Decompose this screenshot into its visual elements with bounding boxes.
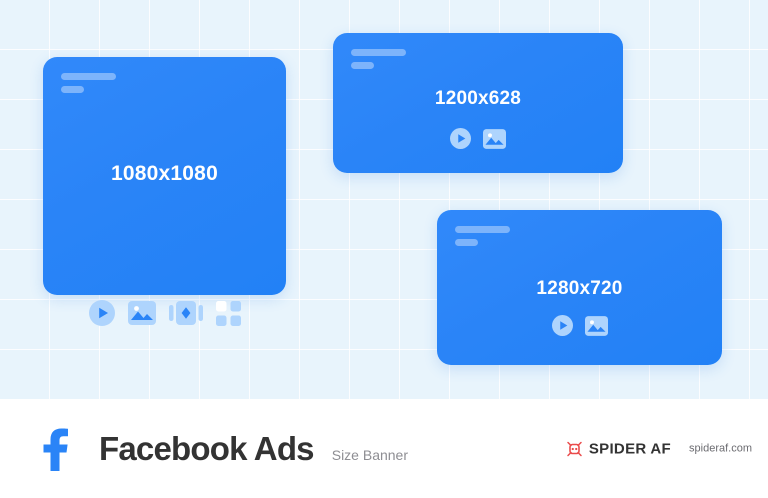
placeholder-bar-short bbox=[455, 239, 478, 246]
card-size-label: 1080x1080 bbox=[43, 162, 286, 186]
card-icon-row bbox=[437, 315, 722, 341]
card-icon-row bbox=[43, 300, 286, 331]
placeholder-bar-short bbox=[61, 86, 84, 93]
brand-url[interactable]: spideraf.com bbox=[689, 443, 752, 455]
footer-title-group: Facebook Ads Size Banner bbox=[99, 430, 408, 468]
grid-icon[interactable] bbox=[216, 301, 241, 331]
play-icon[interactable] bbox=[450, 128, 471, 154]
page-title: Facebook Ads bbox=[99, 430, 314, 468]
ad-size-card-1280x720[interactable]: 1280x720 bbox=[437, 210, 722, 365]
card-size-label: 1280x720 bbox=[437, 278, 722, 300]
image-icon[interactable] bbox=[483, 129, 506, 154]
ad-size-card-1080x1080[interactable]: 1080x1080 bbox=[43, 57, 286, 295]
card-icon-row bbox=[333, 128, 623, 154]
page-subtitle: Size Banner bbox=[332, 447, 408, 463]
placeholder-bar-long bbox=[351, 49, 406, 56]
placeholder-bar-long bbox=[61, 73, 116, 80]
grid-canvas: 1080x1080 bbox=[0, 0, 768, 399]
image-icon[interactable] bbox=[128, 301, 156, 330]
facebook-f-icon bbox=[33, 426, 77, 472]
placeholder-bar-short bbox=[351, 62, 374, 69]
carousel-icon[interactable] bbox=[169, 301, 203, 330]
footer-bar: Facebook Ads Size Banner SPIDER AF spide… bbox=[0, 399, 768, 498]
placeholder-bars bbox=[351, 49, 406, 75]
placeholder-bar-long bbox=[455, 226, 510, 233]
ad-size-card-1200x628[interactable]: 1200x628 bbox=[333, 33, 623, 173]
play-icon[interactable] bbox=[89, 300, 115, 331]
image-icon[interactable] bbox=[585, 316, 608, 341]
brand-name: SPIDER AF bbox=[589, 440, 671, 457]
placeholder-bars bbox=[61, 73, 116, 99]
card-size-label: 1200x628 bbox=[333, 88, 623, 110]
spider-af-icon bbox=[566, 440, 583, 457]
placeholder-bars bbox=[455, 226, 510, 252]
brand-block[interactable]: SPIDER AF spideraf.com bbox=[566, 440, 752, 457]
play-icon[interactable] bbox=[552, 315, 573, 341]
